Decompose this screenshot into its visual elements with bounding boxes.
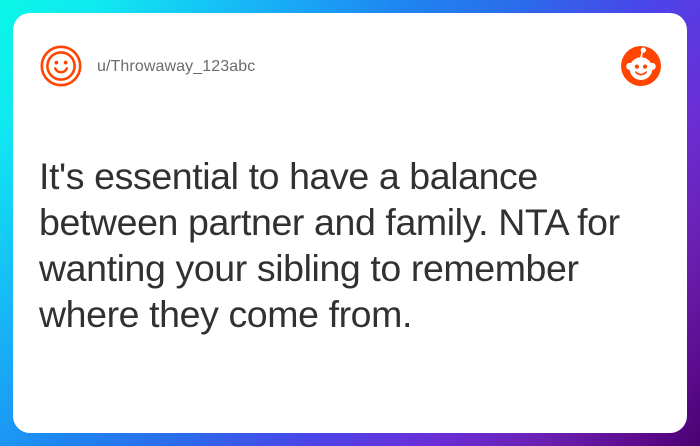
username-label[interactable]: u/Throwaway_123abc (97, 57, 255, 77)
card-header: u/Throwaway_123abc (13, 13, 687, 93)
post-body-text: It's essential to have a balance between… (39, 153, 649, 337)
reddit-snoo-icon[interactable] (620, 45, 662, 87)
smiley-face-icon (40, 45, 82, 87)
screenshot-canvas: u/Throwaway_123abc It's essential to hav… (0, 0, 700, 446)
reddit-comment-card: u/Throwaway_123abc It's essential to hav… (13, 13, 687, 433)
